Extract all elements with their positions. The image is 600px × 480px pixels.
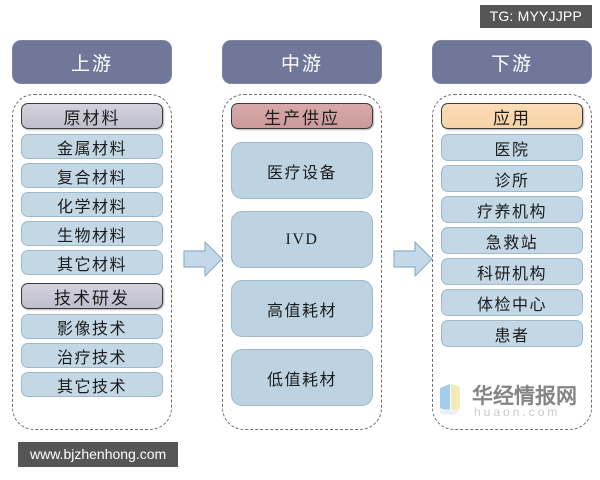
list-item[interactable]: 急救站 <box>441 227 583 254</box>
list-item[interactable]: 科研机构 <box>441 258 583 285</box>
list-item[interactable]: 影像技术 <box>21 314 163 339</box>
midstream-item-stack: 医疗设备 IVD 高值耗材 低值耗材 <box>231 134 373 406</box>
list-item[interactable]: 低值耗材 <box>231 349 373 406</box>
group-header-tech-rd: 技术研发 <box>21 283 163 309</box>
list-item[interactable]: 体检中心 <box>441 289 583 316</box>
column-header-upstream: 上游 <box>12 40 172 84</box>
list-item[interactable]: 生物材料 <box>21 221 163 246</box>
list-item[interactable]: 医疗设备 <box>231 142 373 199</box>
site-url-badge: www.bjzhenhong.com <box>18 442 178 467</box>
column-body-midstream: 生产供应 医疗设备 IVD 高值耗材 低值耗材 <box>222 94 382 430</box>
list-item[interactable]: 患者 <box>441 320 583 347</box>
arrow-right-icon <box>183 240 223 278</box>
list-item[interactable]: 疗养机构 <box>441 196 583 223</box>
column-body-upstream: 原材料 金属材料 复合材料 化学材料 生物材料 其它材料 技术研发 影像技术 治… <box>12 94 172 430</box>
column-midstream: 中游 生产供应 医疗设备 IVD 高值耗材 低值耗材 <box>222 40 382 430</box>
column-body-downstream: 应用 医院 诊所 疗养机构 急救站 科研机构 体检中心 患者 <box>432 94 592 430</box>
list-item[interactable]: 化学材料 <box>21 192 163 217</box>
column-downstream: 下游 应用 医院 诊所 疗养机构 急救站 科研机构 体检中心 患者 <box>432 40 592 430</box>
list-item[interactable]: 高值耗材 <box>231 280 373 337</box>
list-item[interactable]: 其它材料 <box>21 250 163 275</box>
group-header-raw-materials: 原材料 <box>21 103 163 129</box>
arrow-right-icon <box>393 240 433 278</box>
tg-badge: TG: MYYJJPP <box>480 5 592 28</box>
list-item[interactable]: 医院 <box>441 134 583 161</box>
column-header-downstream: 下游 <box>432 40 592 84</box>
column-header-midstream: 中游 <box>222 40 382 84</box>
column-upstream: 上游 原材料 金属材料 复合材料 化学材料 生物材料 其它材料 技术研发 影像技… <box>12 40 172 430</box>
list-item[interactable]: 诊所 <box>441 165 583 192</box>
list-item[interactable]: 治疗技术 <box>21 343 163 368</box>
list-item[interactable]: 金属材料 <box>21 134 163 159</box>
list-item[interactable]: 复合材料 <box>21 163 163 188</box>
list-item[interactable]: IVD <box>231 211 373 268</box>
group-header-application: 应用 <box>441 103 583 129</box>
group-header-production-supply: 生产供应 <box>231 103 373 129</box>
list-item[interactable]: 其它技术 <box>21 372 163 397</box>
diagram-canvas: { "badges": { "tg": "TG: MYYJJPP", "site… <box>0 0 600 480</box>
